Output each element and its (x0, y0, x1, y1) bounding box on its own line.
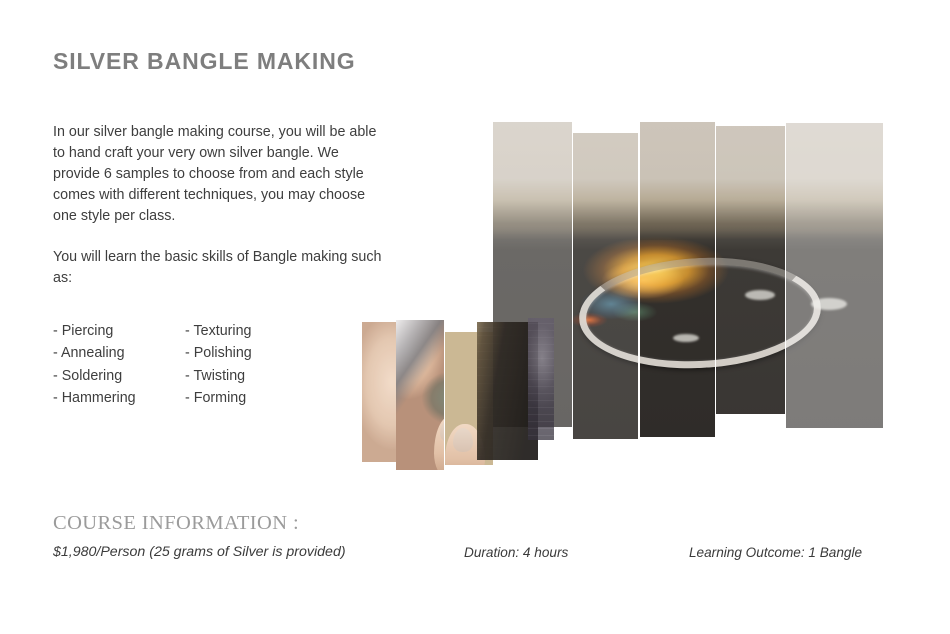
list-item: - Texturing (185, 320, 252, 342)
list-item: - Twisting (185, 365, 252, 387)
skills-intro-paragraph: You will learn the basic skills of Bangl… (53, 247, 383, 289)
skills-list: - Piercing - Annealing - Soldering - Ham… (53, 320, 303, 409)
soldering-bangle-photo (786, 123, 883, 428)
course-price: $1,980/Person (25 grams of Silver is pro… (53, 544, 346, 560)
main-panel-3 (640, 119, 715, 437)
course-description-paragraph: In our silver bangle making course, you … (53, 122, 389, 227)
workbench-photo (477, 322, 538, 460)
list-item: - Hammering (53, 387, 185, 409)
hand-holding-photo (362, 322, 396, 462)
main-panel-1 (493, 122, 572, 427)
bangle-in-hand-photo (396, 320, 444, 470)
flux-sparkle (745, 290, 775, 300)
fingernail (453, 428, 473, 452)
stone-surface-photo (528, 318, 554, 440)
list-item: - Annealing (53, 342, 185, 364)
course-info-slide: SILVER BANGLE MAKING In our silver bangl… (0, 0, 950, 634)
detail-panel-dark (477, 322, 538, 460)
skills-column-left: - Piercing - Annealing - Soldering - Ham… (53, 320, 185, 409)
main-panel-5 (786, 123, 883, 428)
soldering-bangle-photo (493, 122, 572, 427)
detail-panel-stone (528, 318, 554, 440)
flux-sparkle (673, 334, 699, 342)
silver-bangle (716, 252, 785, 375)
course-duration: Duration: 4 hours (464, 545, 568, 560)
silver-bangle (640, 252, 715, 375)
soldering-bangle-photo (573, 133, 638, 439)
finger (434, 416, 444, 470)
list-item: - Piercing (53, 320, 185, 342)
soldering-bangle-photo (640, 122, 715, 437)
course-information-heading: COURSE INFORMATION : (53, 512, 299, 535)
main-panel-4 (716, 126, 785, 414)
list-item: - Soldering (53, 365, 185, 387)
skills-column-right: - Texturing - Polishing - Twisting - For… (185, 320, 252, 409)
silver-bangle (576, 252, 638, 375)
list-item: - Forming (185, 387, 252, 409)
photo-collage (0, 0, 950, 634)
detail-panel-bench (445, 332, 493, 465)
flux-sparkle (811, 298, 847, 310)
detail-panel-ring (396, 320, 444, 470)
finger (445, 424, 485, 465)
main-panel-2 (573, 133, 638, 439)
silver-bangle (786, 252, 824, 375)
bench-pin-photo (445, 332, 493, 465)
page-title: SILVER BANGLE MAKING (53, 48, 356, 75)
fingernail (440, 420, 444, 442)
detail-panel-hand (362, 322, 396, 462)
soldering-bangle-photo (716, 126, 785, 414)
list-item: - Polishing (185, 342, 252, 364)
course-learning-outcome: Learning Outcome: 1 Bangle (689, 545, 862, 560)
